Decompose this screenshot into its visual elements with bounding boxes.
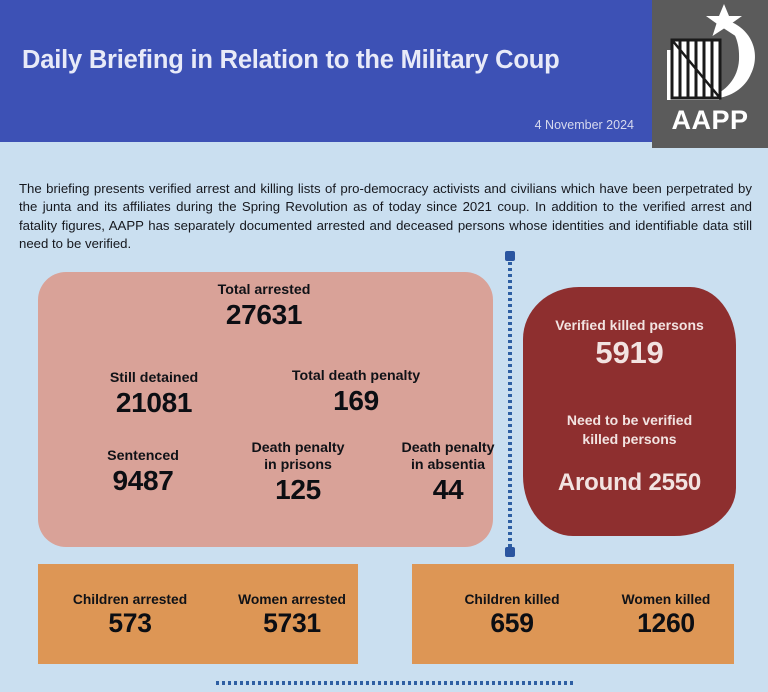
arrest-statistics-panel: Total arrested 27631 Still detained 2108… xyxy=(38,272,493,547)
stat-label-line2: in absentia xyxy=(368,457,528,474)
stat-label: Sentenced xyxy=(58,448,228,465)
stat-label: Women arrested xyxy=(206,591,378,608)
unverified-killed-value: Around 2550 xyxy=(523,465,736,501)
stat-label-line2: in prisons xyxy=(218,457,378,474)
prison-bars-icon xyxy=(667,40,720,100)
briefing-date: 4 November 2024 xyxy=(535,118,634,132)
stat-label: Children killed xyxy=(426,591,598,608)
stat-still-detained: Still detained 21081 xyxy=(64,370,244,418)
aapp-logo: AAPP xyxy=(652,0,768,148)
arrested-demographics-box: Children arrested 573 Women arrested 573… xyxy=(38,564,358,664)
stat-total-death-penalty: Total death penalty 169 xyxy=(256,368,456,416)
stat-death-penalty-in-absentia: Death penalty in absentia 44 xyxy=(368,440,528,505)
stat-value: 9487 xyxy=(58,465,228,496)
stat-value: 573 xyxy=(44,608,216,638)
stat-women-killed: Women killed 1260 xyxy=(580,591,752,638)
unverified-killed-label: Need to be verified killed persons xyxy=(523,411,736,449)
stat-total-arrested: Total arrested 27631 xyxy=(164,282,364,330)
verified-killed-label: Verified killed persons xyxy=(523,316,736,335)
stat-label: Children arrested xyxy=(44,591,216,608)
aapp-logo-text: AAPP xyxy=(652,105,768,136)
stat-label-line1: Death penalty xyxy=(368,440,528,457)
unverified-killed-label-line2: killed persons xyxy=(523,430,736,449)
unverified-killed-label-line1: Need to be verified xyxy=(523,411,736,430)
stat-value: 21081 xyxy=(64,387,244,418)
stat-value: 44 xyxy=(368,474,528,505)
page-title: Daily Briefing in Relation to the Milita… xyxy=(22,46,559,75)
stat-value: 169 xyxy=(256,385,456,416)
stat-children-arrested: Children arrested 573 xyxy=(44,591,216,638)
stat-women-arrested: Women arrested 5731 xyxy=(206,591,378,638)
intro-paragraph: The briefing presents verified arrest an… xyxy=(19,180,752,254)
stat-label: Total arrested xyxy=(164,282,364,299)
killed-statistics-panel: Verified killed persons 5919 Need to be … xyxy=(523,287,736,536)
stat-value: 1260 xyxy=(580,608,752,638)
stat-sentenced: Sentenced 9487 xyxy=(58,448,228,496)
verified-killed-value: 5919 xyxy=(523,335,736,371)
stat-label: Women killed xyxy=(580,591,752,608)
stat-value: 659 xyxy=(426,608,598,638)
killed-demographics-box: Children killed 659 Women killed 1260 xyxy=(412,564,734,664)
stat-children-killed: Children killed 659 xyxy=(426,591,598,638)
aapp-logo-art xyxy=(652,2,768,114)
stat-death-penalty-in-prisons: Death penalty in prisons 125 xyxy=(218,440,378,505)
stat-label-line1: Death penalty xyxy=(218,440,378,457)
stat-value: 5731 xyxy=(206,608,378,638)
stat-label: Still detained xyxy=(64,370,244,387)
vertical-dotted-divider xyxy=(508,256,512,552)
stat-value: 27631 xyxy=(164,299,364,330)
horizontal-dotted-divider xyxy=(216,681,576,685)
stat-value: 125 xyxy=(218,474,378,505)
stat-label: Total death penalty xyxy=(256,368,456,385)
page-header: Daily Briefing in Relation to the Milita… xyxy=(0,0,768,148)
